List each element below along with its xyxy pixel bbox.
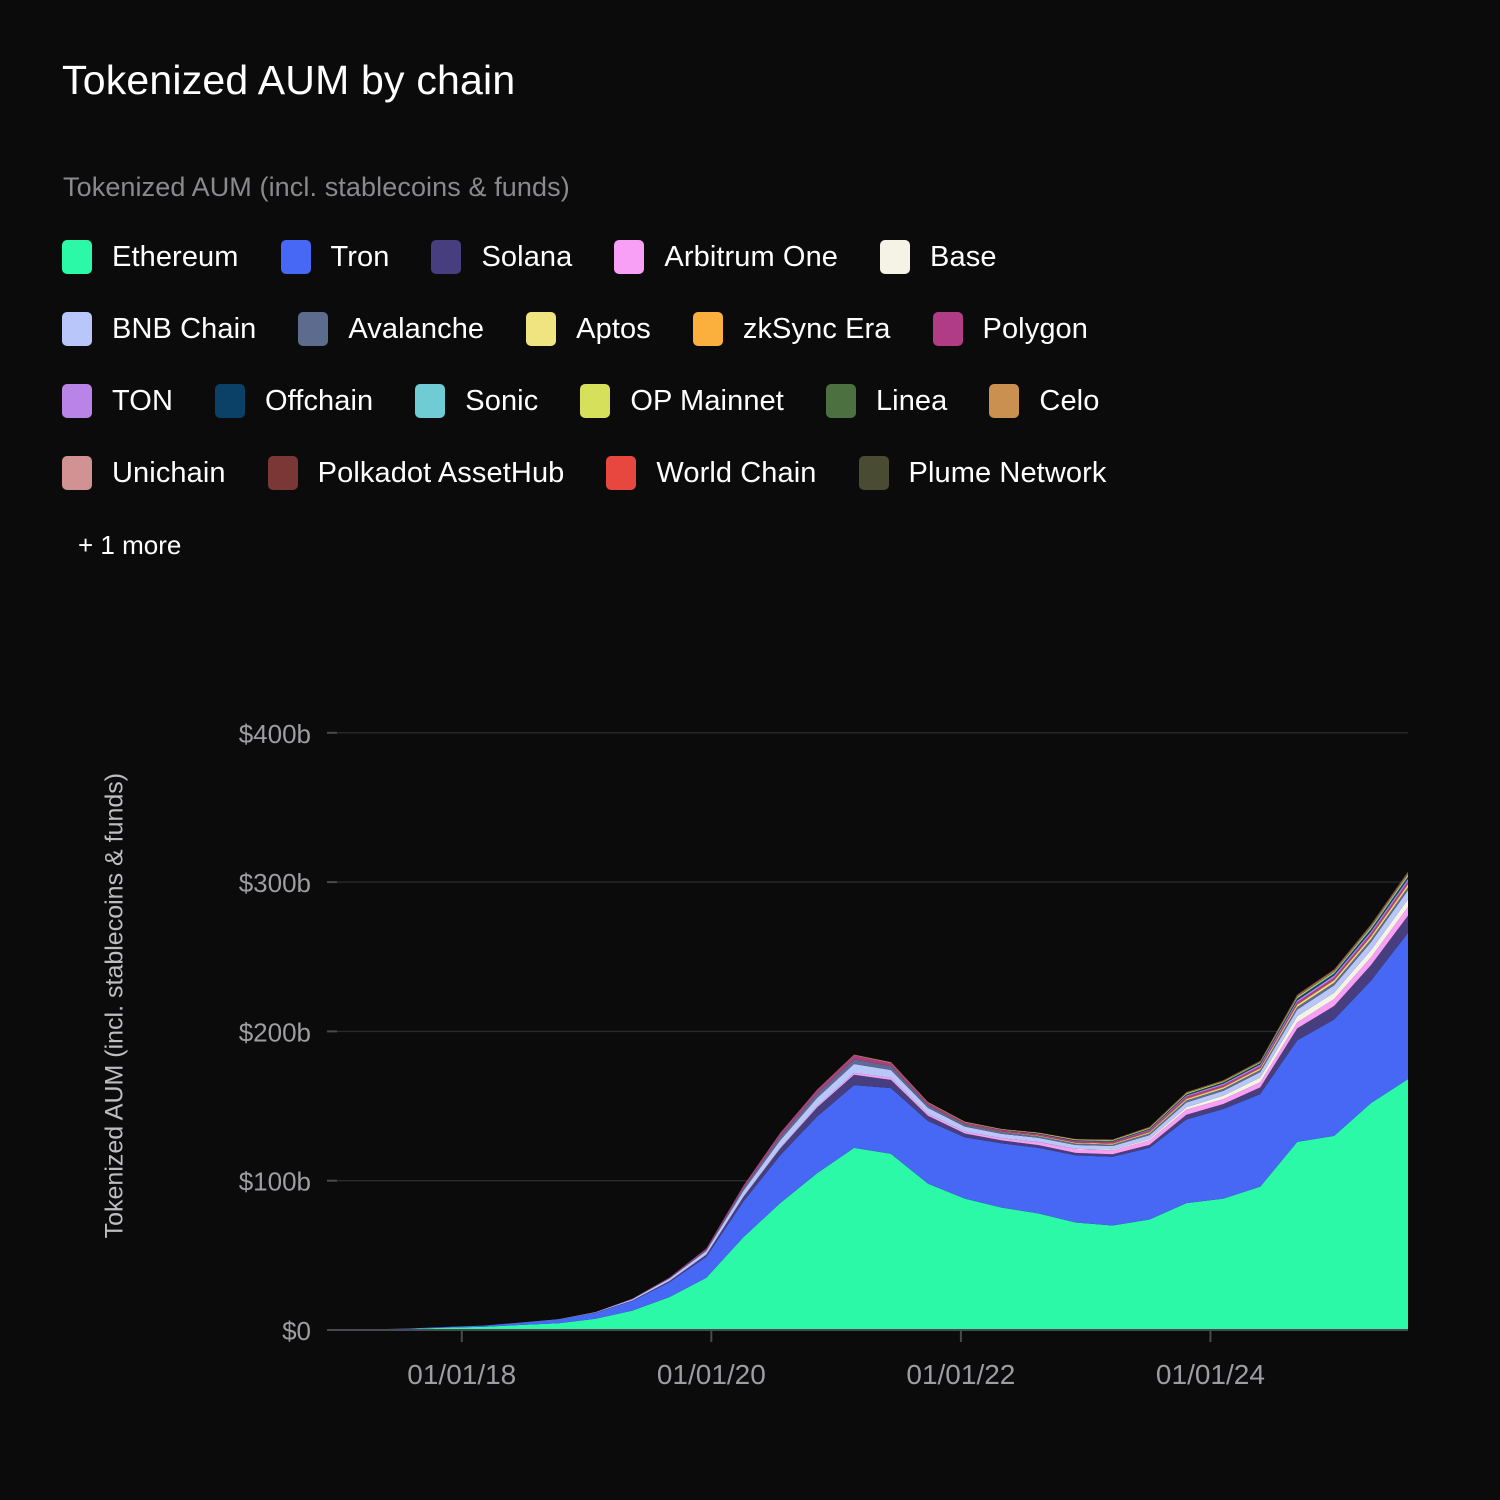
legend-item-bnb-chain[interactable]: BNB Chain <box>62 312 256 346</box>
legend-item-unichain[interactable]: Unichain <box>62 456 226 490</box>
legend-item-label: Arbitrum One <box>664 241 838 274</box>
legend-swatch-icon <box>431 240 461 274</box>
legend-swatch-icon <box>826 384 856 418</box>
legend-item-label: TON <box>112 385 173 418</box>
legend-swatch-icon <box>268 456 298 490</box>
legend-item-solana[interactable]: Solana <box>431 240 572 274</box>
legend-item-polygon[interactable]: Polygon <box>933 312 1089 346</box>
x-tick-label: 01/01/24 <box>1156 1359 1265 1390</box>
legend-more-row[interactable]: + 1 more <box>62 520 1452 570</box>
y-tick-label: $200b <box>239 1017 311 1047</box>
legend-item-label: zkSync Era <box>743 313 891 346</box>
legend-item-label: Avalanche <box>348 313 484 346</box>
page-title: Tokenized AUM by chain <box>62 58 515 103</box>
chart-card: Tokenized AUM by chain Tokenized AUM (in… <box>0 0 1500 1500</box>
legend-swatch-icon <box>606 456 636 490</box>
plot-area: Tokenized AUM (incl. stablecoins & funds… <box>0 620 1500 1420</box>
legend-item-label: Plume Network <box>909 457 1107 490</box>
x-tick-label: 01/01/22 <box>906 1359 1015 1390</box>
legend-more-label[interactable]: + 1 more <box>78 530 181 561</box>
legend-item-sonic[interactable]: Sonic <box>415 384 538 418</box>
legend-swatch-icon <box>62 456 92 490</box>
legend-swatch-icon <box>859 456 889 490</box>
legend-row: UnichainPolkadot AssetHubWorld ChainPlum… <box>62 448 1452 498</box>
legend-item-label: World Chain <box>656 457 816 490</box>
legend-swatch-icon <box>933 312 963 346</box>
legend-item-ton[interactable]: TON <box>62 384 173 418</box>
chart-subtitle: Tokenized AUM (incl. stablecoins & funds… <box>63 172 570 203</box>
legend-swatch-icon <box>415 384 445 418</box>
legend-swatch-icon <box>880 240 910 274</box>
legend-item-avalanche[interactable]: Avalanche <box>298 312 484 346</box>
legend-swatch-icon <box>693 312 723 346</box>
y-tick-label: $400b <box>239 719 311 749</box>
legend-swatch-icon <box>62 384 92 418</box>
y-tick-label: $100b <box>239 1167 311 1197</box>
legend-item-offchain[interactable]: Offchain <box>215 384 373 418</box>
legend-row: EthereumTronSolanaArbitrum OneBase <box>62 232 1452 282</box>
x-tick-label: 01/01/18 <box>407 1359 516 1390</box>
legend-item-label: Sonic <box>465 385 538 418</box>
legend-item-base[interactable]: Base <box>880 240 997 274</box>
legend-item-label: Offchain <box>265 385 373 418</box>
legend-item-arbitrum-one[interactable]: Arbitrum One <box>614 240 838 274</box>
legend-swatch-icon <box>62 312 92 346</box>
legend-item-label: Unichain <box>112 457 226 490</box>
legend-swatch-icon <box>215 384 245 418</box>
legend-item-polkadot-assethub[interactable]: Polkadot AssetHub <box>268 456 565 490</box>
legend-item-linea[interactable]: Linea <box>826 384 947 418</box>
legend-item-label: Aptos <box>576 313 651 346</box>
legend-item-label: Ethereum <box>112 241 239 274</box>
chart-legend: EthereumTronSolanaArbitrum OneBaseBNB Ch… <box>62 232 1452 592</box>
y-tick-label: $300b <box>239 868 311 898</box>
legend-swatch-icon <box>989 384 1019 418</box>
legend-item-plume-network[interactable]: Plume Network <box>859 456 1107 490</box>
legend-item-world-chain[interactable]: World Chain <box>606 456 816 490</box>
legend-item-zksync-era[interactable]: zkSync Era <box>693 312 891 346</box>
legend-item-tron[interactable]: Tron <box>281 240 390 274</box>
legend-item-label: Tron <box>331 241 390 274</box>
legend-item-label: Polygon <box>983 313 1089 346</box>
legend-item-label: Polkadot AssetHub <box>318 457 565 490</box>
legend-swatch-icon <box>62 240 92 274</box>
legend-swatch-icon <box>614 240 644 274</box>
legend-row: TONOffchainSonicOP MainnetLineaCelo <box>62 376 1452 426</box>
legend-item-label: Linea <box>876 385 947 418</box>
legend-item-label: Solana <box>481 241 572 274</box>
legend-swatch-icon <box>298 312 328 346</box>
legend-swatch-icon <box>281 240 311 274</box>
legend-item-celo[interactable]: Celo <box>989 384 1099 418</box>
x-tick-label: 01/01/20 <box>657 1359 766 1390</box>
legend-item-label: BNB Chain <box>112 313 256 346</box>
legend-swatch-icon <box>580 384 610 418</box>
legend-swatch-icon <box>526 312 556 346</box>
legend-item-ethereum[interactable]: Ethereum <box>62 240 239 274</box>
legend-item-aptos[interactable]: Aptos <box>526 312 651 346</box>
legend-item-op-mainnet[interactable]: OP Mainnet <box>580 384 784 418</box>
stacked-area-chart: $0$100b$200b$300b$400b01/01/1801/01/2001… <box>0 620 1500 1420</box>
legend-item-label: Celo <box>1039 385 1099 418</box>
y-tick-label: $0 <box>282 1316 311 1346</box>
legend-item-label: OP Mainnet <box>630 385 784 418</box>
legend-item-label: Base <box>930 241 997 274</box>
legend-row: BNB ChainAvalancheAptoszkSync EraPolygon <box>62 304 1452 354</box>
